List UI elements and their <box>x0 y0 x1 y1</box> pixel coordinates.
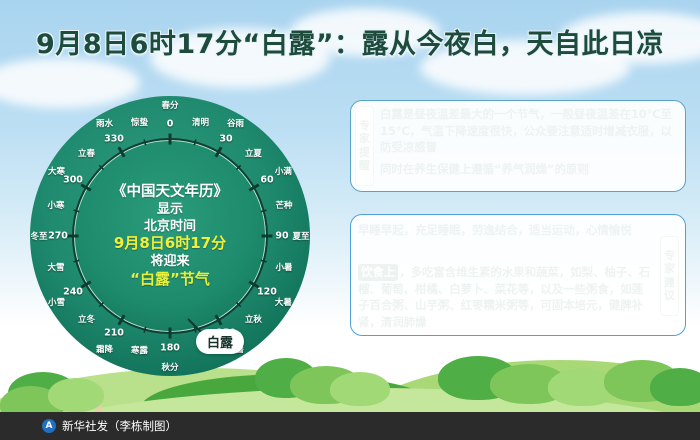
solar-term-大雪: 大雪 <box>48 261 65 273</box>
solar-term-雨水: 雨水 <box>96 117 113 129</box>
footer-credit: 新华社发（李栋制图） <box>62 418 177 434</box>
solar-term-大寒: 大寒 <box>48 165 65 177</box>
solar-term-谷雨: 谷雨 <box>227 117 244 129</box>
degree-label-180: 180 <box>160 343 180 354</box>
expert-remind-box <box>350 100 686 192</box>
solar-term-小寒: 小寒 <box>48 199 65 211</box>
solar-term-大暑: 大暑 <box>275 296 292 308</box>
solar-term-小雪: 小雪 <box>48 296 65 308</box>
solar-term-芒种: 芒种 <box>275 199 292 211</box>
degree-label-60: 60 <box>260 175 273 186</box>
solar-term-清明: 清明 <box>192 116 209 128</box>
degree-label-90: 90 <box>275 231 288 242</box>
degree-label-330: 330 <box>104 134 124 145</box>
center-line-1: 《中国天文年历》 <box>112 185 228 200</box>
solar-term-立夏: 立夏 <box>245 147 262 159</box>
solar-term-小满: 小满 <box>275 165 292 177</box>
infographic-root: 9月8日6时17分“白露”：露从今夜白，天自此日凉 《中国天文年历》 显示 北京… <box>0 0 700 440</box>
solar-terms-circle: 《中国天文年历》 显示 北京时间 9月8日6时17分 将迎来 “白露”节气 0春… <box>30 96 310 376</box>
center-text-block: 《中国天文年历》 显示 北京时间 9月8日6时17分 将迎来 “白露”节气 <box>74 140 266 332</box>
cloud-4 <box>0 58 140 108</box>
degree-label-240: 240 <box>63 287 83 298</box>
center-line-2: 显示 <box>157 203 183 217</box>
solar-term-寒露: 寒露 <box>131 344 148 356</box>
bush-6 <box>330 372 390 406</box>
center-line-6: “白露”节气 <box>130 272 210 288</box>
solar-term-立秋: 立秋 <box>245 313 262 325</box>
bush-3 <box>48 378 104 412</box>
expert-advice-box <box>350 214 686 336</box>
degree-label-270: 270 <box>48 231 68 242</box>
footer-bar: A 新华社发（李栋制图） <box>0 412 700 440</box>
solar-term-春分: 春分 <box>161 99 178 111</box>
page-title: 9月8日6时17分“白露”：露从今夜白，天自此日凉 <box>0 22 700 61</box>
center-line-4: 9月8日6时17分 <box>114 236 226 252</box>
center-line-5: 将迎来 <box>150 255 189 269</box>
solar-term-冬至: 冬至 <box>30 230 47 242</box>
solar-term-小暑: 小暑 <box>275 261 292 273</box>
degree-label-300: 300 <box>63 175 83 186</box>
degree-label-0: 0 <box>167 119 174 130</box>
bailu-callout: 白露 <box>196 329 244 354</box>
degree-label-120: 120 <box>257 287 277 298</box>
bush-11 <box>650 368 700 406</box>
page-title-text: 9月8日6时17分“白露”：露从今夜白，天自此日凉 <box>36 22 664 61</box>
solar-term-惊蛰: 惊蛰 <box>131 116 148 128</box>
solar-term-秋分: 秋分 <box>161 361 178 373</box>
solar-term-霜降: 霜降 <box>96 343 113 355</box>
degree-label-30: 30 <box>219 134 232 145</box>
solar-term-立冬: 立冬 <box>78 313 95 325</box>
xinhua-logo-icon: A <box>42 419 56 433</box>
solar-term-立春: 立春 <box>78 147 95 159</box>
degree-label-210: 210 <box>104 327 124 338</box>
center-line-3: 北京时间 <box>144 220 196 234</box>
solar-term-夏至: 夏至 <box>292 230 309 242</box>
